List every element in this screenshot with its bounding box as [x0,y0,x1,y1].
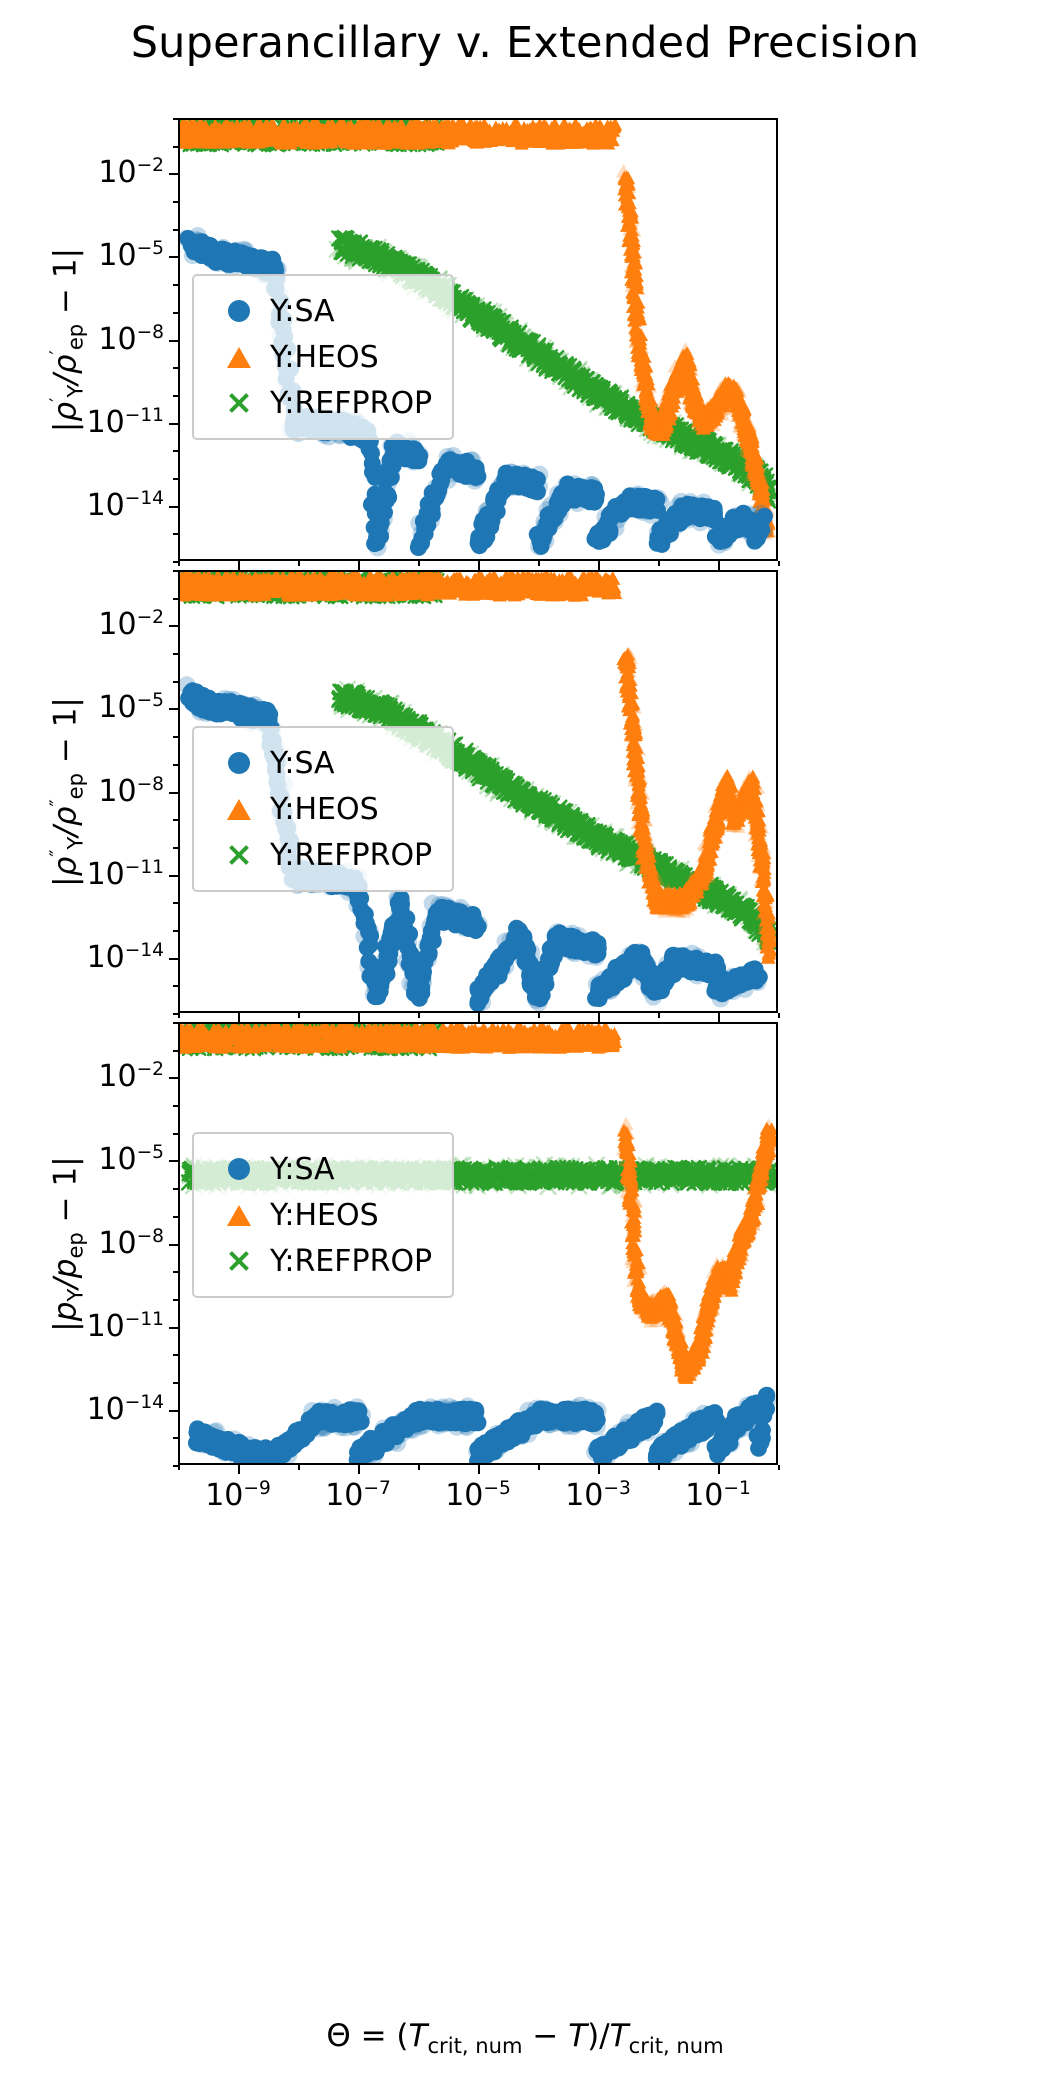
y-minor-tick-mark [173,1022,178,1024]
y-minor-tick-mark [173,118,178,120]
legend-label-heos: Y:HEOS [270,792,379,827]
y-minor-tick-mark [173,312,178,314]
y-minor-tick-mark [173,570,178,572]
y-minor-tick-mark [173,1188,178,1190]
x-marker [208,391,270,415]
y-minor-tick-mark [173,284,178,286]
y-tick-mark [169,958,178,960]
x-minor-tick-mark [298,1465,300,1470]
y-minor-tick-mark [173,201,178,203]
y-tick-mark [169,506,178,508]
y-tick-mark [169,792,178,794]
circle-marker [208,752,270,774]
y-minor-tick-mark [173,533,178,535]
y-tick-mark [169,875,178,877]
y-tick-label: 10−11 [87,1312,164,1342]
y-minor-tick-mark [173,819,178,821]
x-marker [208,1249,270,1273]
x-axis-label: Θ = (Tcrit, num − T)/Tcrit, num [0,2018,1050,2054]
x-minor-tick-mark [178,561,180,566]
x-tick-mark [598,1013,600,1022]
x-minor-tick-mark [538,1465,540,1470]
y-tick-mark [169,173,178,175]
x-tick-mark [718,1465,720,1474]
y-tick-mark [169,256,178,258]
y-minor-tick-mark [173,764,178,766]
y-minor-tick-mark [173,847,178,849]
x-minor-tick-mark [778,1465,780,1470]
y-tick-label: 10−8 [98,1229,164,1259]
x-minor-tick-mark [658,561,660,566]
figure-title: Superancillary v. Extended Precision [0,18,1050,68]
x-tick-mark [598,1465,600,1474]
x-minor-tick-mark [298,561,300,566]
legend-label-refprop: Y:REFPROP [270,838,432,873]
y-minor-tick-mark [173,653,178,655]
x-minor-tick-mark [538,1013,540,1018]
triangle-marker [208,347,270,368]
y-tick-label: 10−11 [87,860,164,890]
x-tick-mark [478,1465,480,1474]
x-tick-label: 10−7 [325,1481,391,1511]
y-tick-mark [169,423,178,425]
y-tick-label: 10−14 [87,491,164,521]
x-tick-mark [358,1465,360,1474]
y-axis-label-panel-3: |pY/pep − 1| [51,1156,82,1331]
y-minor-tick-mark [173,930,178,932]
y-tick-label: 10−8 [98,325,164,355]
y-minor-tick-mark [173,1271,178,1273]
y-minor-tick-mark [173,598,178,600]
y-tick-label: 10−8 [98,777,164,807]
y-tick-label: 10−2 [98,1062,164,1092]
x-tick-mark [238,1013,240,1022]
legend-item-sa[interactable]: Y:SA [208,740,432,786]
x-tick-mark [718,1013,720,1022]
y-tick-label: 10−14 [87,1395,164,1425]
legend-label-heos: Y:HEOS [270,1198,379,1233]
x-tick-mark [358,1013,360,1022]
y-tick-mark [169,1077,178,1079]
y-minor-tick-mark [173,1105,178,1107]
y-minor-tick-mark [173,681,178,683]
x-minor-tick-mark [418,1013,420,1018]
y-minor-tick-mark [173,1216,178,1218]
y-tick-label: 10−14 [87,943,164,973]
legend-label-refprop: Y:REFPROP [270,1244,432,1279]
legend-panel-1[interactable]: Y:SA Y:HEOS Y:REFPROP [192,274,454,440]
x-minor-tick-mark [778,561,780,566]
panel-rho-vapor: |ρ″Y/ρ″ep − 1| Y:SA Y:HEOS Y:REFPROP 10−… [178,570,778,1013]
legend-item-heos[interactable]: Y:HEOS [208,786,432,832]
y-tick-label: 10−11 [87,408,164,438]
legend-label-heos: Y:HEOS [270,340,379,375]
y-minor-tick-mark [173,1437,178,1439]
y-axis-label-panel-2: |ρ″Y/ρ″ep − 1| [51,697,82,887]
y-tick-label: 10−5 [98,241,164,271]
y-minor-tick-mark [173,1050,178,1052]
legend-panel-3[interactable]: Y:SA Y:HEOS Y:REFPROP [192,1132,454,1298]
x-tick-mark [478,1013,480,1022]
circle-marker [208,300,270,322]
panel-rho-liquid: |ρ′Y/ρ′ep − 1| Y:SA Y:HEOS Y:REFPROP 10−… [178,118,778,561]
legend-panel-2[interactable]: Y:SA Y:HEOS Y:REFPROP [192,726,454,892]
x-tick-mark [358,561,360,570]
y-minor-tick-mark [173,229,178,231]
legend-label-sa: Y:SA [270,1152,335,1187]
x-minor-tick-mark [418,561,420,566]
x-tick-mark [718,561,720,570]
y-tick-mark [169,1160,178,1162]
x-tick-label: 10−5 [445,1481,511,1511]
y-minor-tick-mark [173,985,178,987]
x-tick-mark [238,1465,240,1474]
x-minor-tick-mark [658,1013,660,1018]
y-minor-tick-mark [173,736,178,738]
y-minor-tick-mark [173,1354,178,1356]
y-tick-mark [169,1410,178,1412]
x-minor-tick-mark [178,1013,180,1018]
x-tick-mark [478,561,480,570]
legend-item-heos[interactable]: Y:HEOS [208,1192,432,1238]
y-tick-mark [169,625,178,627]
y-tick-mark [169,1244,178,1246]
x-minor-tick-mark [538,561,540,566]
triangle-marker [208,1205,270,1226]
legend-item-refprop[interactable]: Y:REFPROP [208,380,432,426]
figure-root: Superancillary v. Extended Precision |ρ′… [0,0,1050,2100]
x-minor-tick-mark [298,1013,300,1018]
circle-marker [208,1158,270,1180]
legend-label-refprop: Y:REFPROP [270,386,432,421]
y-tick-label: 10−5 [98,693,164,723]
y-tick-mark [169,340,178,342]
y-minor-tick-mark [173,367,178,369]
y-tick-label: 10−5 [98,1145,164,1175]
y-minor-tick-mark [173,902,178,904]
panel-pressure: |pY/pep − 1| Y:SA Y:HEOS Y:REFPROP 10−21… [178,1022,778,1465]
y-tick-label: 10−2 [98,610,164,640]
x-marker [208,843,270,867]
x-tick-label: 10−1 [685,1481,751,1511]
x-tick-mark [238,561,240,570]
y-minor-tick-mark [173,450,178,452]
legend-item-heos[interactable]: Y:HEOS [208,334,432,380]
x-minor-tick-mark [658,1465,660,1470]
triangle-marker [208,799,270,820]
legend-item-refprop[interactable]: Y:REFPROP [208,1238,432,1284]
legend-item-refprop[interactable]: Y:REFPROP [208,832,432,878]
y-minor-tick-mark [173,146,178,148]
y-minor-tick-mark [173,1382,178,1384]
series-sa [188,1387,776,1463]
y-axis-label-panel-1: |ρ′Y/ρ′ep − 1| [51,247,82,431]
y-minor-tick-mark [173,395,178,397]
x-minor-tick-mark [778,1013,780,1018]
x-minor-tick-mark [418,1465,420,1470]
legend-label-sa: Y:SA [270,746,335,781]
y-minor-tick-mark [173,478,178,480]
y-tick-mark [169,1327,178,1329]
x-tick-label: 10−3 [565,1481,631,1511]
y-minor-tick-mark [173,1299,178,1301]
x-tick-mark [598,561,600,570]
y-minor-tick-mark [173,1133,178,1135]
x-tick-label: 10−9 [205,1481,271,1511]
legend-item-sa[interactable]: Y:SA [208,288,432,334]
legend-item-sa[interactable]: Y:SA [208,1146,432,1192]
x-minor-tick-mark [178,1465,180,1470]
legend-label-sa: Y:SA [270,294,335,329]
y-tick-label: 10−2 [98,158,164,188]
y-tick-mark [169,708,178,710]
